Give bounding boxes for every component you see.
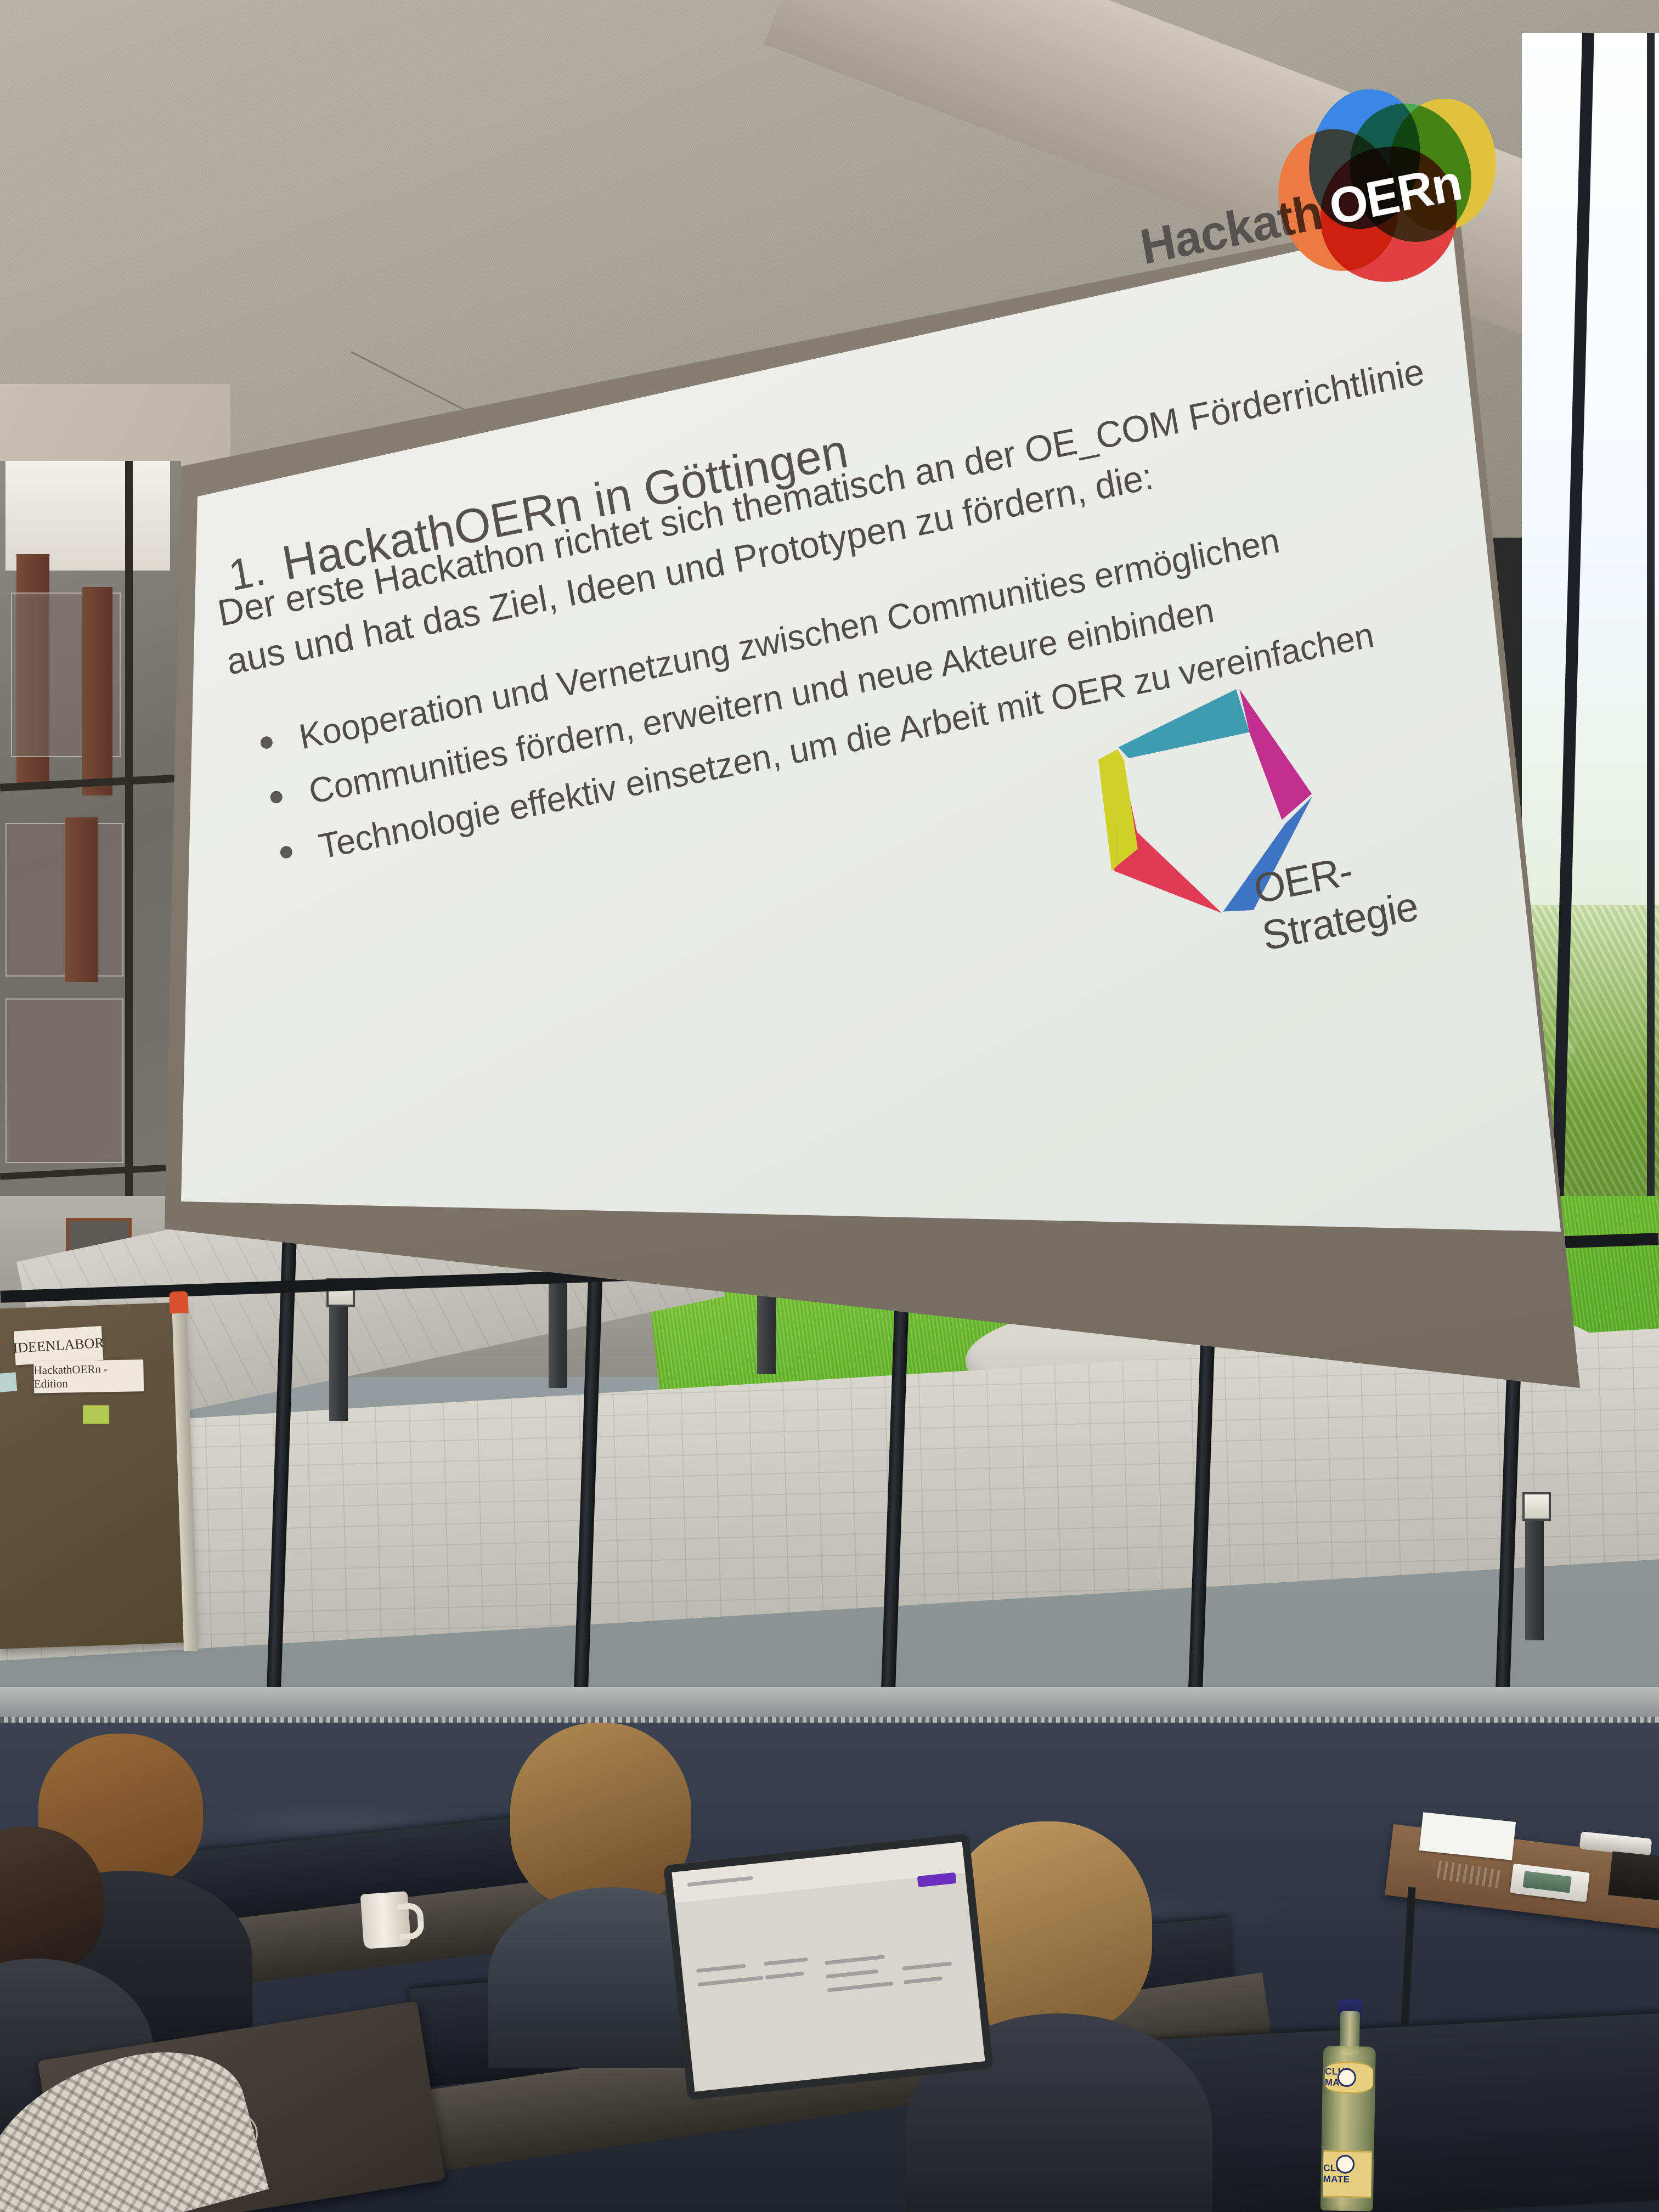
av-equipment-box (1608, 1851, 1659, 1901)
lecture-hall-photo: Hackath OERn 1.HackathOERn in Göttingen … (0, 0, 1659, 2212)
bollard-light (329, 1295, 348, 1421)
pinboard-note-ideenlabor: IDEENLABOR (14, 1326, 103, 1365)
sticky-note (0, 1372, 17, 1393)
pinboard: IDEENLABOR HackathOERn - Edition (0, 1302, 193, 1649)
club-mate-bottle: CLUB-MATE CLUB-MATE (1321, 1996, 1377, 2211)
coffee-mug (360, 1891, 411, 1949)
bollard-light (1525, 1509, 1544, 1640)
laptop-ui-badge (917, 1872, 957, 1887)
pinboard-note-edition: HackathOERn - Edition (33, 1359, 144, 1393)
pinboard-magnet (0, 1337, 1, 1346)
open-laptop[interactable] (663, 1833, 994, 2100)
sticky-note (83, 1405, 109, 1424)
laptop-screen (663, 1833, 994, 2100)
laptop-document (672, 1842, 985, 2091)
left-window-wall (0, 461, 181, 1317)
